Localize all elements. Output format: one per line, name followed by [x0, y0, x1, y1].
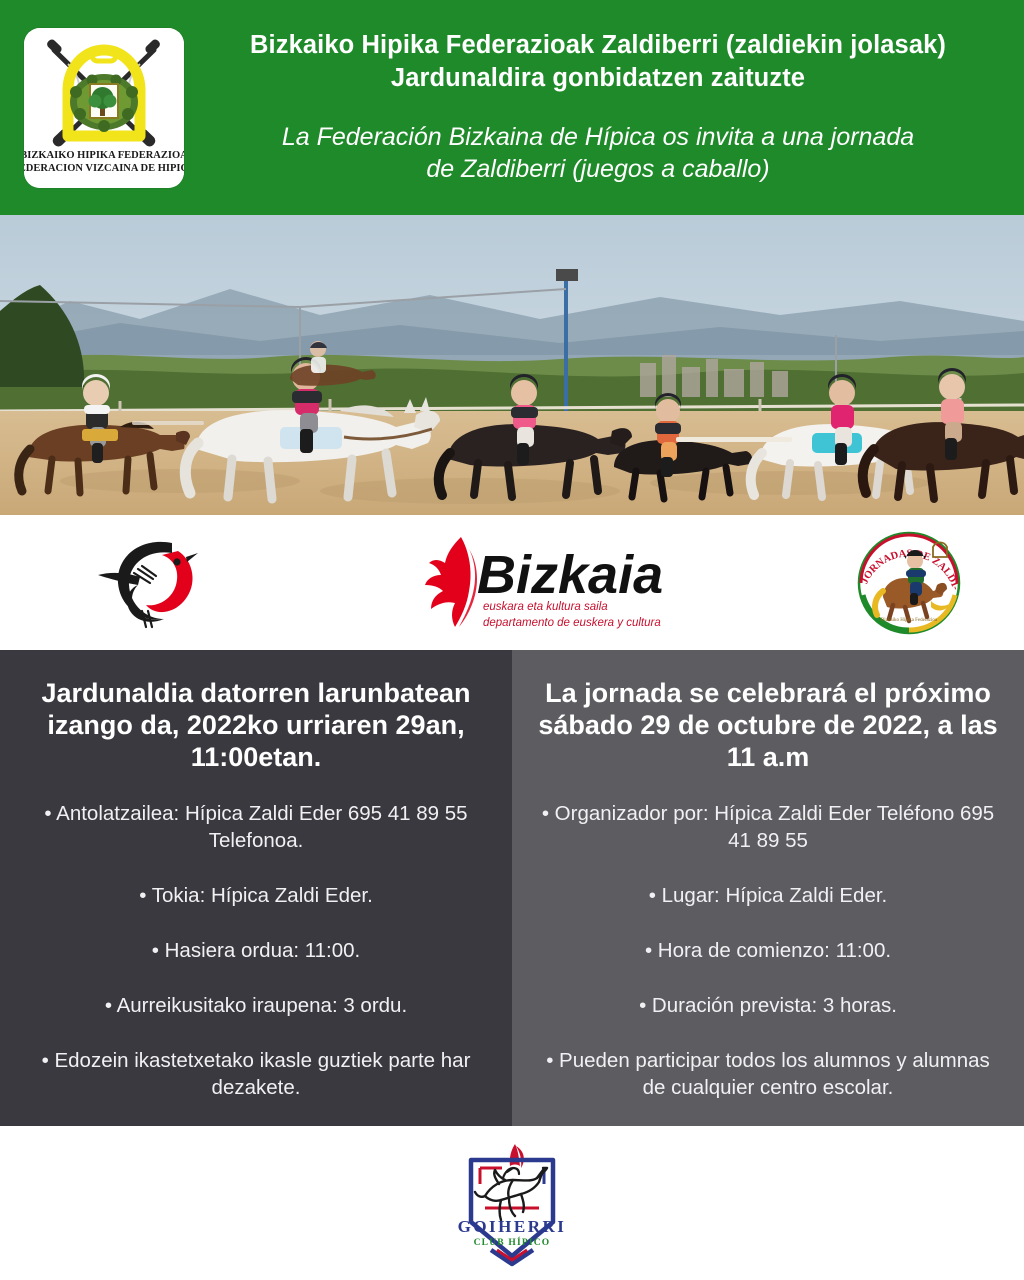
federation-logo-caption-es: FEDERACION VIZCAINA DE HIPICA: [24, 163, 184, 174]
header-banner: BIZKAIKO HIPIKA FEDERAZIOA FEDERACION VI…: [0, 0, 1024, 215]
info-panels: Jardunaldia datorren larunbatean izango …: [0, 650, 1024, 1126]
list-item: • Tokia: Hípica Zaldi Eder.: [22, 882, 490, 909]
header-title-eu-line1: Bizkaiko Hipika Federazioak Zaldiberri (…: [250, 29, 946, 62]
club-name: GOIHERRI: [458, 1217, 567, 1236]
club-subtitle: CLUB HÍPICO: [474, 1236, 551, 1248]
euskara-bird-icon: [94, 531, 206, 635]
list-item: • Hora de comienzo: 11:00.: [534, 937, 1002, 964]
list-item: • Lugar: Hípica Zaldi Eder.: [534, 882, 1002, 909]
zaldi-berri-footer-text: Bizkaiko Hipika Federazioa: [881, 618, 938, 623]
bizkaia-wordmark: Bizkaia: [477, 545, 663, 605]
header-title-es-line1: La Federación Bizkaina de Hípica os invi…: [282, 121, 914, 154]
list-item: • Pueden participar todos los alumnos y …: [534, 1047, 1002, 1101]
list-item: • Organizador por: Hípica Zaldi Eder Tel…: [534, 800, 1002, 854]
event-photo-illustration: [0, 215, 1024, 515]
bizkaia-subtitle-es: departamento de euskera y cultura: [483, 617, 661, 629]
list-item: • Aurreikusitako iraupena: 3 ordu.: [22, 992, 490, 1019]
sponsor-euskara-bird: [0, 528, 300, 638]
info-panel-spanish: La jornada se celebrará el próximo sábad…: [512, 650, 1024, 1126]
header-title-eu-line2: Jardunaldira gonbidatzen zaituzte: [391, 62, 805, 95]
panel-title-basque: Jardunaldia datorren larunbatean izango …: [22, 678, 490, 774]
jornadas-de-zaldi-berri-icon: JORNADAS DE ZALDI-BERRI: [853, 527, 965, 639]
list-item: • Duración prevista: 3 horas.: [534, 992, 1002, 1019]
bizkaia-subtitle-eu: euskara eta kultura saila: [483, 601, 608, 613]
header-text-block: Bizkaiko Hipika Federazioak Zaldiberri (…: [184, 29, 1024, 185]
list-item: • Hasiera ordua: 11:00.: [22, 937, 490, 964]
sponsor-bizkaia: Bizkaia euskara eta kultura saila depart…: [300, 528, 794, 638]
sponsor-strip: Bizkaia euskara eta kultura saila depart…: [0, 515, 1024, 650]
panel-title-spanish: La jornada se celebrará el próximo sábad…: [534, 678, 1002, 774]
oak-leaf-icon: [425, 537, 477, 627]
bizkaia-logo-icon: Bizkaia euskara eta kultura saila depart…: [417, 531, 677, 635]
event-photo: [0, 215, 1024, 515]
federation-logo-icon: BIZKAIKO HIPIKA FEDERAZIOA FEDERACION VI…: [24, 28, 184, 188]
footer: GOIHERRI CLUB HÍPICO: [0, 1126, 1024, 1280]
header-title-es-line2: de Zaldiberri (juegos a caballo): [426, 153, 769, 186]
poster: BIZKAIKO HIPIKA FEDERAZIOA FEDERACION VI…: [0, 0, 1024, 1280]
goiherri-club-hipico-logo: GOIHERRI CLUB HÍPICO: [447, 1138, 577, 1268]
federation-logo-caption-eu: BIZKAIKO HIPIKA FEDERAZIOA: [24, 150, 184, 161]
sponsor-zaldi-berri: JORNADAS DE ZALDI-BERRI: [794, 528, 1024, 638]
list-item: • Edozein ikastetxetako ikasle guztiek p…: [22, 1047, 490, 1101]
list-item: • Antolatzailea: Hípica Zaldi Eder 695 4…: [22, 800, 490, 854]
panel-bullets-basque: • Antolatzailea: Hípica Zaldi Eder 695 4…: [22, 800, 490, 1101]
federation-logo: BIZKAIKO HIPIKA FEDERAZIOA FEDERACION VI…: [24, 28, 184, 188]
panel-bullets-spanish: • Organizador por: Hípica Zaldi Eder Tel…: [534, 800, 1002, 1101]
info-panel-basque: Jardunaldia datorren larunbatean izango …: [0, 650, 512, 1126]
jumping-horse-icon: [475, 1168, 547, 1220]
